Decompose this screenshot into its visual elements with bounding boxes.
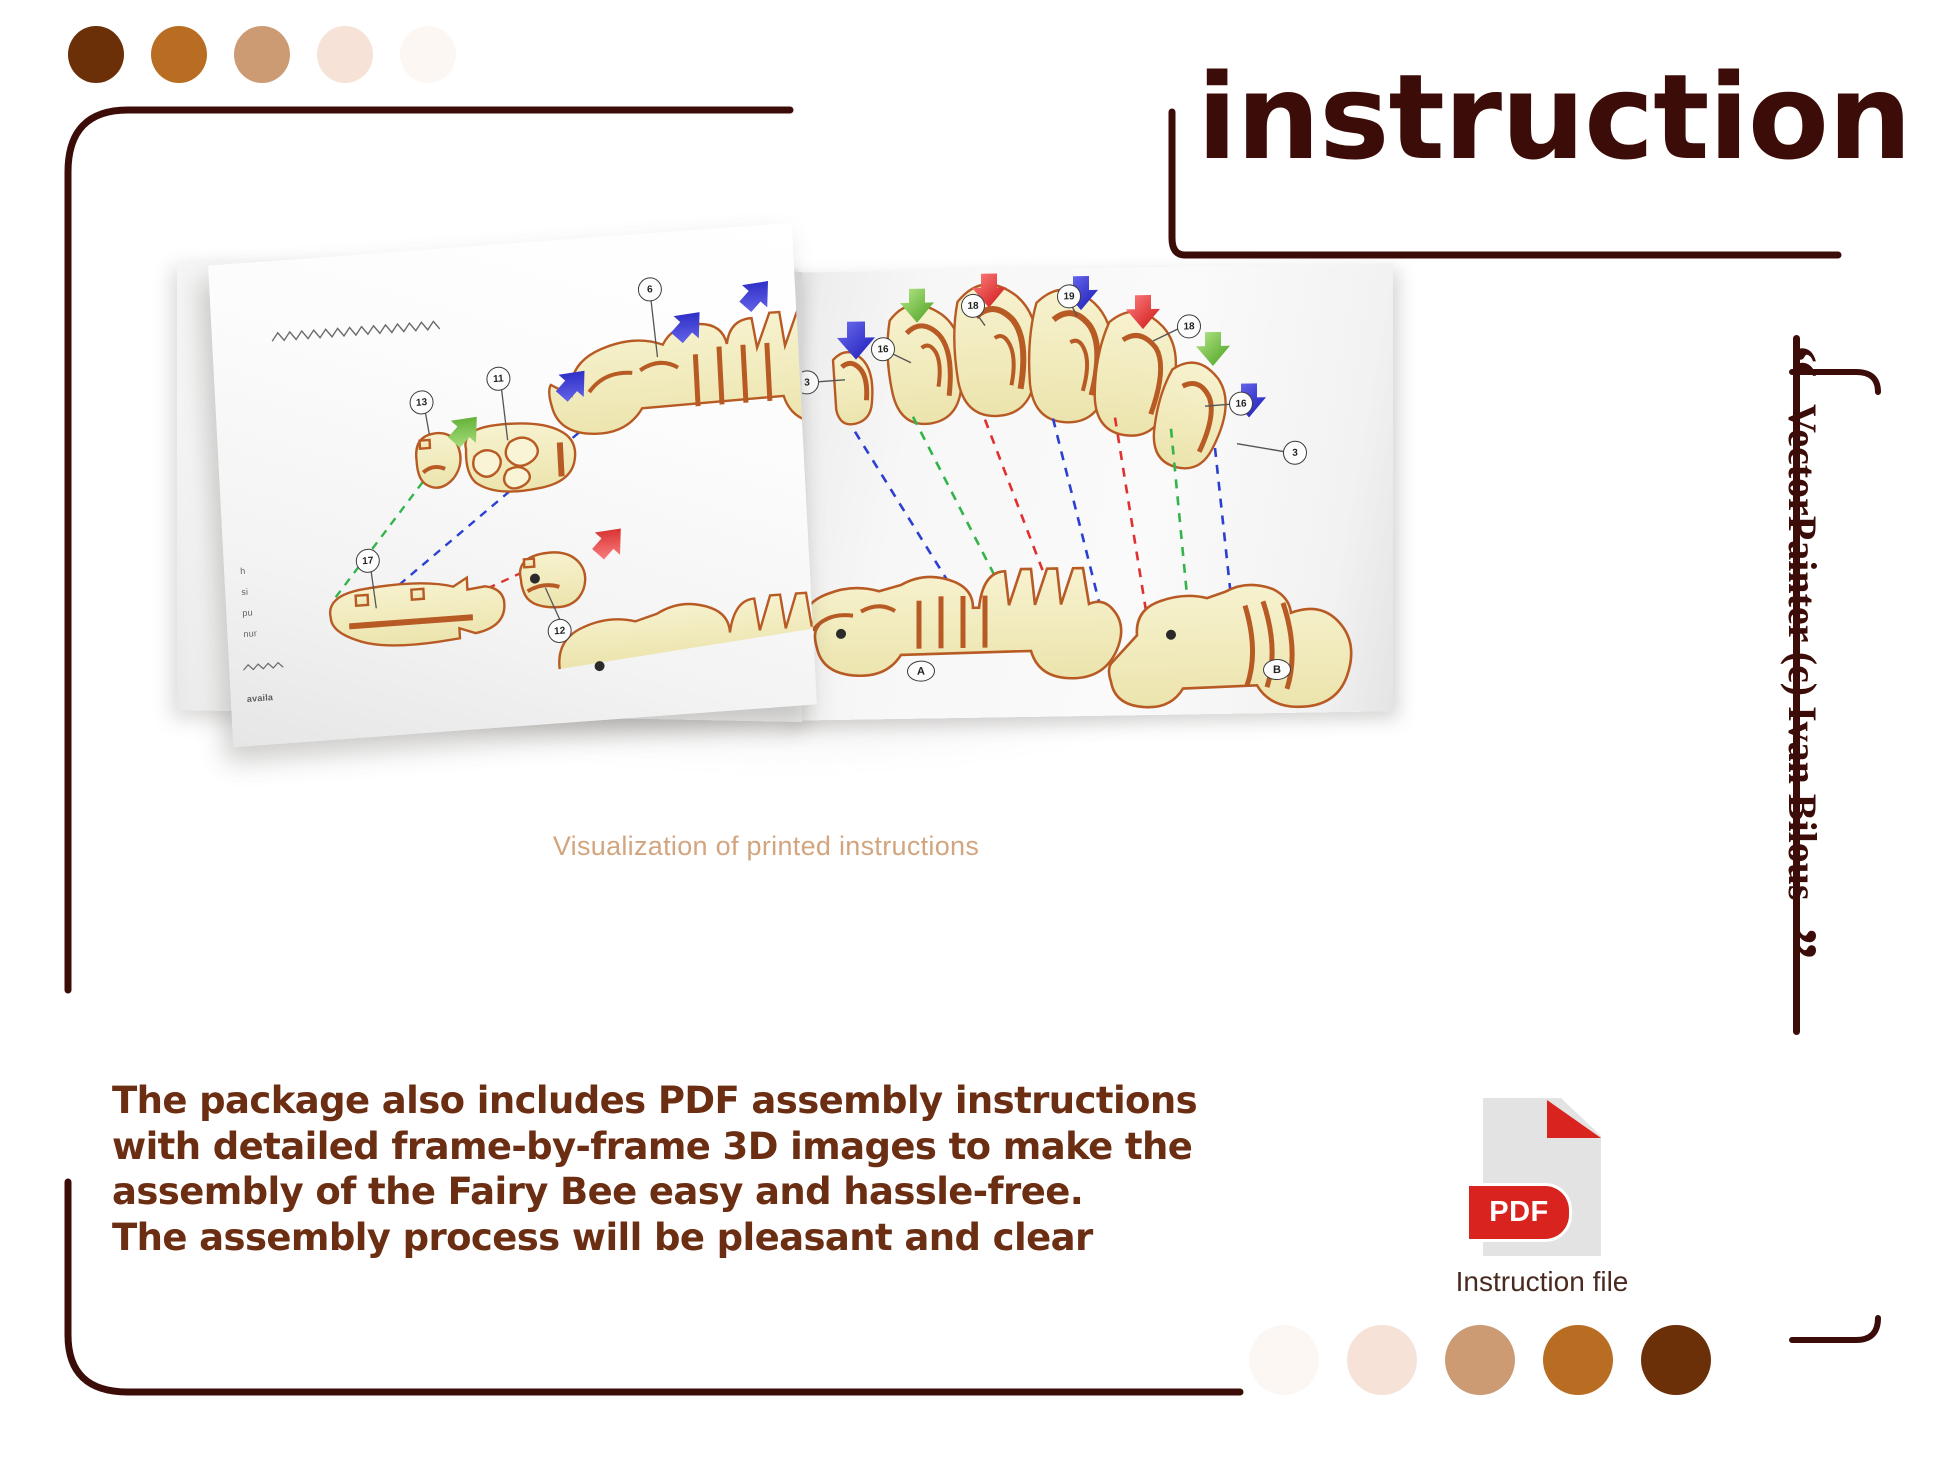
swatch-blush xyxy=(1347,1325,1417,1395)
description-line-2: with detailed frame-by-frame 3D images t… xyxy=(112,1124,1142,1170)
description-text: The package also includes PDF assembly i… xyxy=(112,1078,1142,1260)
page-text-fragment: si xyxy=(241,587,248,597)
pdf-file-label: Instruction file xyxy=(1412,1266,1672,1298)
swatch-cream xyxy=(400,26,456,83)
palette-swatches-top xyxy=(68,26,456,83)
poster-canvas: instruction “ VectorPainter (c) Ivan Bil… xyxy=(0,0,1946,1460)
flip-sheet-artwork xyxy=(208,223,817,747)
booklet-right-page: 3 16 18 19 18 16 3 A B xyxy=(785,263,1393,721)
swatch-amber xyxy=(1543,1325,1613,1395)
swatch-blush xyxy=(317,26,373,83)
booklet-mockup: 3 16 18 19 18 16 3 A B xyxy=(95,230,1425,810)
quote-close-icon: ” xyxy=(1780,927,1806,960)
quote-open-icon: “ xyxy=(1780,345,1806,378)
pdf-badge: PDF xyxy=(1469,1183,1572,1242)
swatch-dark-brown xyxy=(68,26,124,83)
right-page-artwork xyxy=(785,263,1393,721)
page-text-fragment: availa xyxy=(247,692,274,704)
description-line-3: assembly of the Fairy Bee easy and hassl… xyxy=(112,1169,1142,1215)
description-line-1: The package also includes PDF assembly i… xyxy=(112,1078,1142,1124)
page-text-fragment: h xyxy=(240,566,246,576)
attribution: “ VectorPainter (c) Ivan Bilous ” xyxy=(1768,345,1838,985)
swatch-tan xyxy=(234,26,290,83)
swatch-tan xyxy=(1445,1325,1515,1395)
description-line-4: The assembly process will be pleasant an… xyxy=(112,1215,1142,1261)
swatch-cream xyxy=(1249,1325,1319,1395)
page-text-fragment: pu xyxy=(242,607,253,618)
swatch-amber xyxy=(151,26,207,83)
mockup-caption: Visualization of printed instructions xyxy=(0,831,1532,862)
page-title: instruction xyxy=(1197,58,1911,176)
attribution-text: VectorPainter (c) Ivan Bilous xyxy=(1780,404,1827,901)
swatch-dark-brown xyxy=(1641,1325,1711,1395)
palette-swatches-bottom xyxy=(1249,1325,1711,1395)
pdf-file-block[interactable]: PDF Instruction file xyxy=(1412,1098,1672,1298)
booklet-flipping-sheet[interactable]: h si pu nur availa 13 11 6 17 12 xyxy=(208,223,817,747)
pdf-document-icon: PDF xyxy=(1483,1098,1601,1256)
page-text-fragment: nur xyxy=(243,628,257,639)
